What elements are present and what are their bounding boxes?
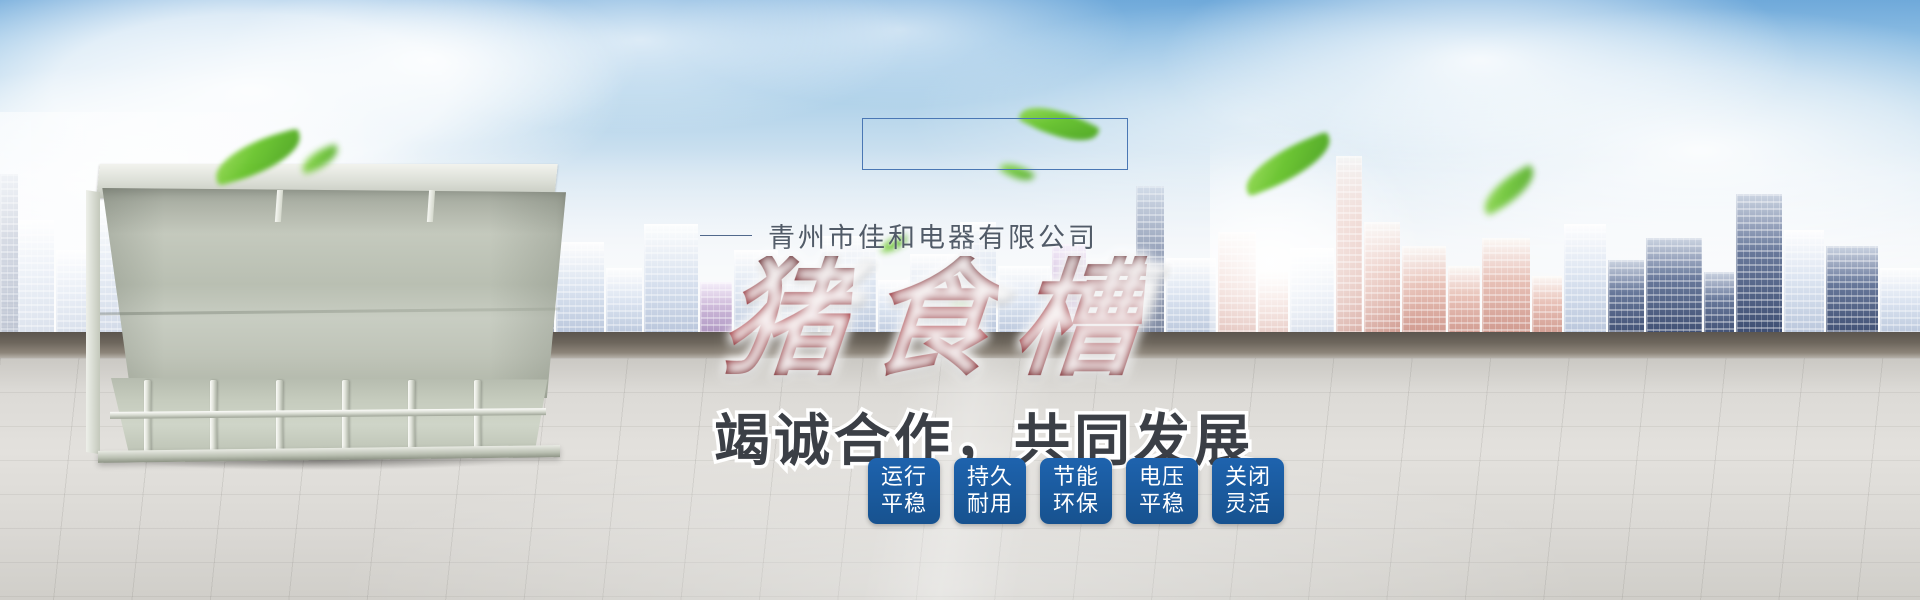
page-title: 猪 食 槽: [722, 256, 1142, 384]
decorative-frame-tick: [1127, 118, 1128, 170]
badge-line-1: 节能: [1053, 464, 1099, 491]
product-image-pig-feeder-trough: [80, 160, 580, 460]
banner-copy: 青州市佳和电器有限公司 猪 食 槽 竭诚合作，共同发展 运行 平稳 持久 耐用 …: [700, 96, 1480, 536]
trough-divider: [474, 380, 481, 452]
trough-inner-shading: [88, 188, 566, 398]
badge-line-2: 平稳: [1139, 491, 1185, 518]
headline-char-1: 猪: [716, 256, 855, 384]
feature-badge-list: 运行 平稳 持久 耐用 节能 环保 电压 平稳 关闭 灵活: [868, 458, 1284, 524]
badge-line-2: 灵活: [1225, 491, 1271, 518]
badge-line-1: 电压: [1139, 464, 1185, 491]
badge-line-1: 运行: [881, 464, 927, 491]
badge-line-2: 平稳: [881, 491, 927, 518]
company-name-rule: [700, 235, 752, 236]
decorative-frame: [862, 118, 1127, 170]
promo-banner: 青州市佳和电器有限公司 猪 食 槽 竭诚合作，共同发展 运行 平稳 持久 耐用 …: [0, 0, 1920, 600]
badge-line-2: 环保: [1053, 491, 1099, 518]
feature-badge-flexible-closing[interactable]: 关闭 灵活: [1212, 458, 1284, 524]
badge-line-1: 关闭: [1225, 464, 1271, 491]
headline-char-2: 食: [862, 256, 1001, 384]
headline-char-3: 槽: [1008, 256, 1147, 384]
feature-badge-durable[interactable]: 持久 耐用: [954, 458, 1026, 524]
feature-badge-voltage-stable[interactable]: 电压 平稳: [1126, 458, 1198, 524]
feature-badge-energy-saving[interactable]: 节能 环保: [1040, 458, 1112, 524]
feature-badge-operation-stable[interactable]: 运行 平稳: [868, 458, 940, 524]
badge-line-1: 持久: [967, 464, 1013, 491]
trough-left-edge: [86, 190, 100, 454]
badge-line-2: 耐用: [967, 491, 1013, 518]
